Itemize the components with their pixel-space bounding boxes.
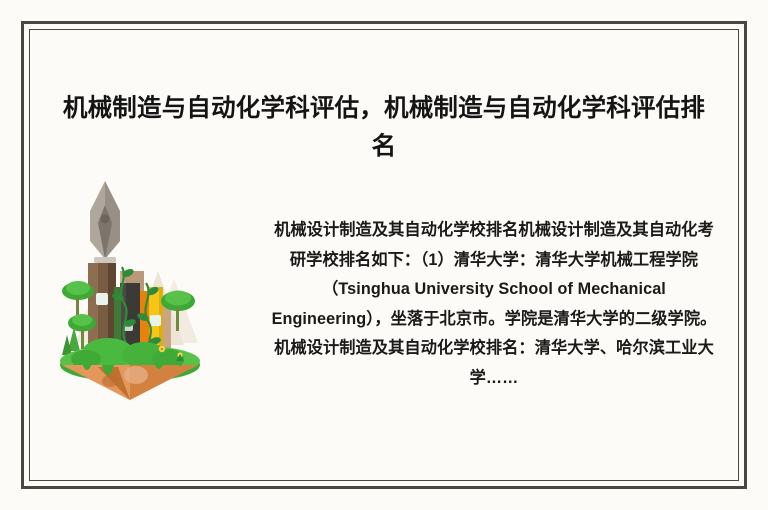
document-content: 机械制造与自动化学科评估，机械制造与自动化学科评估排名 [30, 30, 738, 480]
floating-island-svg [58, 175, 203, 400]
document-page: 机械制造与自动化学科评估，机械制造与自动化学科评估排名 [0, 0, 768, 510]
body-paragraph: 机械设计制造及其自动化学校排名机械设计制造及其自动化考研学校排名如下：（1）清华… [268, 216, 720, 393]
page-title: 机械制造与自动化学科评估，机械制造与自动化学科评估排名 [58, 90, 710, 166]
island-soil [62, 361, 198, 400]
illustration-floating-island [58, 175, 203, 400]
pen-nib-icon [90, 181, 120, 263]
